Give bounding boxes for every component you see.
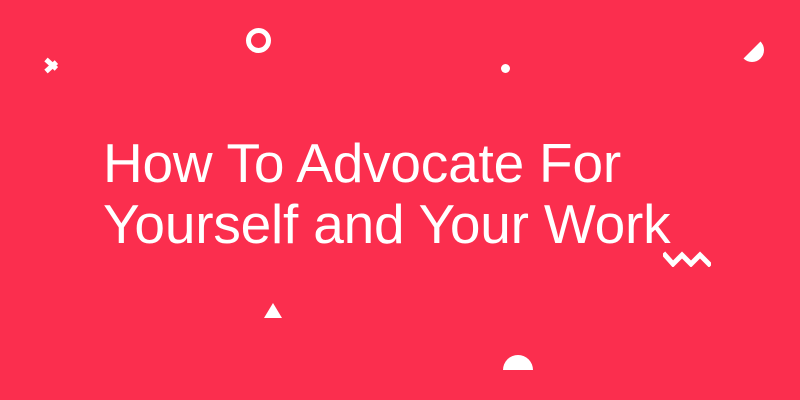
promo-banner: How To Advocate For Yourself and Your Wo… xyxy=(0,0,800,400)
tilted-half-circle-shape xyxy=(744,42,769,67)
banner-title: How To Advocate For Yourself and Your Wo… xyxy=(103,133,723,255)
ring-icon xyxy=(246,28,271,53)
dot-icon xyxy=(501,64,510,73)
chevron-right-icon xyxy=(44,52,62,78)
banner-title-line-2: Yourself and Your Work xyxy=(103,194,723,255)
tilted-half-circle-icon xyxy=(740,38,764,62)
banner-title-line-1: How To Advocate For xyxy=(103,133,723,194)
dome-icon xyxy=(503,355,533,370)
triangle-up-icon xyxy=(264,303,282,318)
